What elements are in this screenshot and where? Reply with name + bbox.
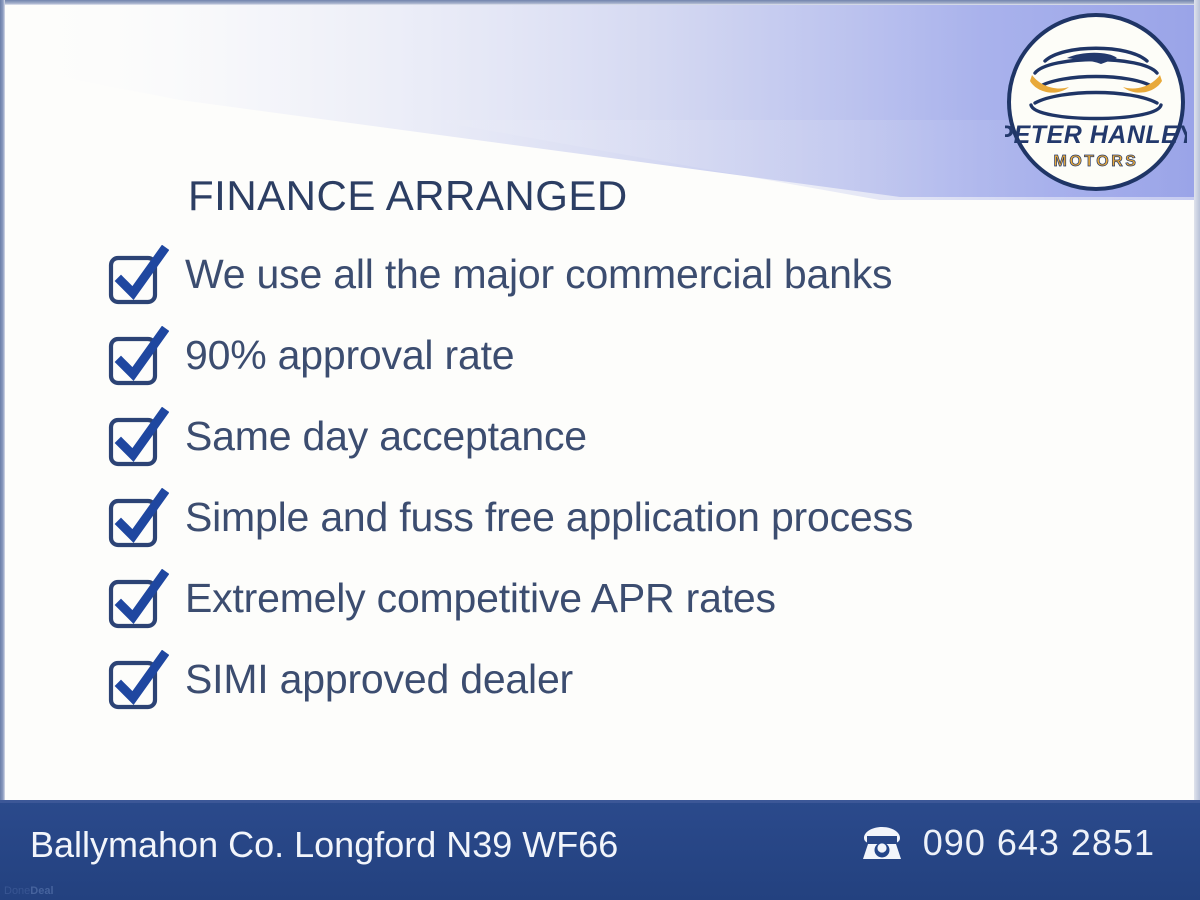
checkbox-checked-icon: [107, 488, 169, 550]
list-item-label: Extremely competitive APR rates: [185, 567, 776, 629]
checkbox-checked-icon: [107, 569, 169, 631]
peter-hanley-motors-logo: PETER HANLEY MOTORS: [1005, 11, 1187, 193]
logo-name-bottom: MOTORS: [1054, 153, 1139, 170]
list-item: 90% approval rate: [107, 324, 1107, 405]
list-item-label: Same day acceptance: [185, 405, 587, 467]
phone-number: 090 643 2851: [923, 822, 1155, 864]
checkbox-checked-icon: [107, 650, 169, 712]
list-item: Simple and fuss free application process: [107, 486, 1107, 567]
donedeal-watermark: DoneDeal: [4, 885, 54, 897]
list-item-label: We use all the major commercial banks: [185, 243, 892, 305]
checkbox-checked-icon: [107, 326, 169, 388]
checkbox-checked-icon: [107, 245, 169, 307]
finance-arranged-poster: PETER HANLEY MOTORS FINANCE ARRANGED We …: [0, 0, 1200, 900]
list-item-label: 90% approval rate: [185, 324, 514, 386]
frame-top-border: [0, 0, 1200, 5]
list-item: We use all the major commercial banks: [107, 243, 1107, 324]
watermark-prefix: Done: [4, 885, 30, 897]
phone-contact-group[interactable]: 090 643 2851: [859, 822, 1155, 864]
list-item-label: SIMI approved dealer: [185, 648, 573, 710]
footer-top-divider: [0, 800, 1200, 803]
contact-footer-bar: Ballymahon Co. Longford N39 WF66 090 643…: [0, 800, 1200, 900]
checkbox-checked-icon: [107, 407, 169, 469]
frame-left-border: [0, 0, 5, 900]
list-item: Extremely competitive APR rates: [107, 567, 1107, 648]
page-title: FINANCE ARRANGED: [188, 172, 628, 220]
watermark-suffix: Deal: [30, 885, 53, 897]
feature-list: We use all the major commercial banks 90…: [107, 243, 1107, 729]
list-item: SIMI approved dealer: [107, 648, 1107, 729]
dealer-address: Ballymahon Co. Longford N39 WF66: [30, 824, 618, 866]
frame-right-border: [1194, 0, 1200, 900]
logo-name-top: PETER HANLEY: [1005, 121, 1187, 149]
list-item: Same day acceptance: [107, 405, 1107, 486]
telephone-icon: [859, 823, 905, 863]
list-item-label: Simple and fuss free application process: [185, 486, 913, 548]
